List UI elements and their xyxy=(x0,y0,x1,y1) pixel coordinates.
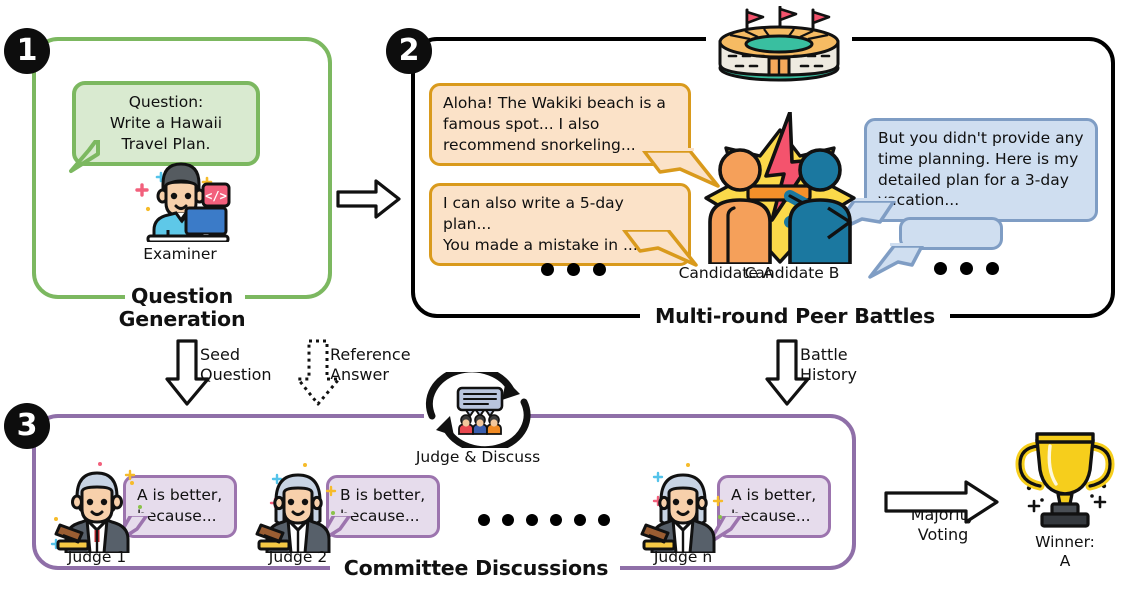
caption-question-generation: Question Generation xyxy=(72,285,292,331)
judge-1-icon xyxy=(44,455,150,553)
candidate-b-label: Candidate B xyxy=(712,264,872,283)
step-badge-3: 3 xyxy=(4,403,50,449)
committee-ellipsis xyxy=(478,514,610,526)
candidate-b-bubble-1: But you didn't provide any time planning… xyxy=(864,118,1098,222)
examiner-label: Examiner xyxy=(120,245,240,264)
discussion-cycle-icon xyxy=(420,372,536,448)
stadium-icon xyxy=(706,6,852,84)
caption-committee-discussions: Committee Discussions xyxy=(330,557,622,580)
peer-battle-ellipsis-left xyxy=(541,263,606,276)
judge-n-label: Judge n xyxy=(623,548,743,567)
trophy-icon xyxy=(1012,424,1118,528)
step-badge-1: 1 xyxy=(4,28,50,74)
battle-history-label: Battle History xyxy=(800,345,920,384)
examiner-icon: </> xyxy=(128,146,232,242)
svg-text:</>: </> xyxy=(205,189,227,203)
judge-1-label: Judge 1 xyxy=(37,548,157,567)
examiner-to-battle-arrow xyxy=(336,178,402,220)
candidate-b-bubble-2-tail xyxy=(868,243,926,281)
seed-question-arrow xyxy=(165,339,211,407)
winner-label: Winner: A xyxy=(1005,533,1125,570)
battle-history-arrow xyxy=(765,339,811,407)
versus-icon xyxy=(694,112,866,264)
judge-discuss-label: Judge & Discuss xyxy=(383,448,573,467)
peer-battle-ellipsis-right xyxy=(934,262,999,275)
diagram-canvas: 1 Question Generation Question: Write a … xyxy=(0,0,1130,598)
candidate-a-bubble-2-tail xyxy=(620,227,702,269)
judge-2-icon xyxy=(245,455,351,553)
reference-answer-arrow xyxy=(296,339,342,407)
caption-peer-battles: Multi-round Peer Battles xyxy=(645,305,945,328)
step-badge-2: 2 xyxy=(386,28,432,74)
question-bubble-tail xyxy=(68,138,108,174)
judge-n-icon xyxy=(630,455,736,553)
majority-voting-arrow xyxy=(884,480,1000,524)
